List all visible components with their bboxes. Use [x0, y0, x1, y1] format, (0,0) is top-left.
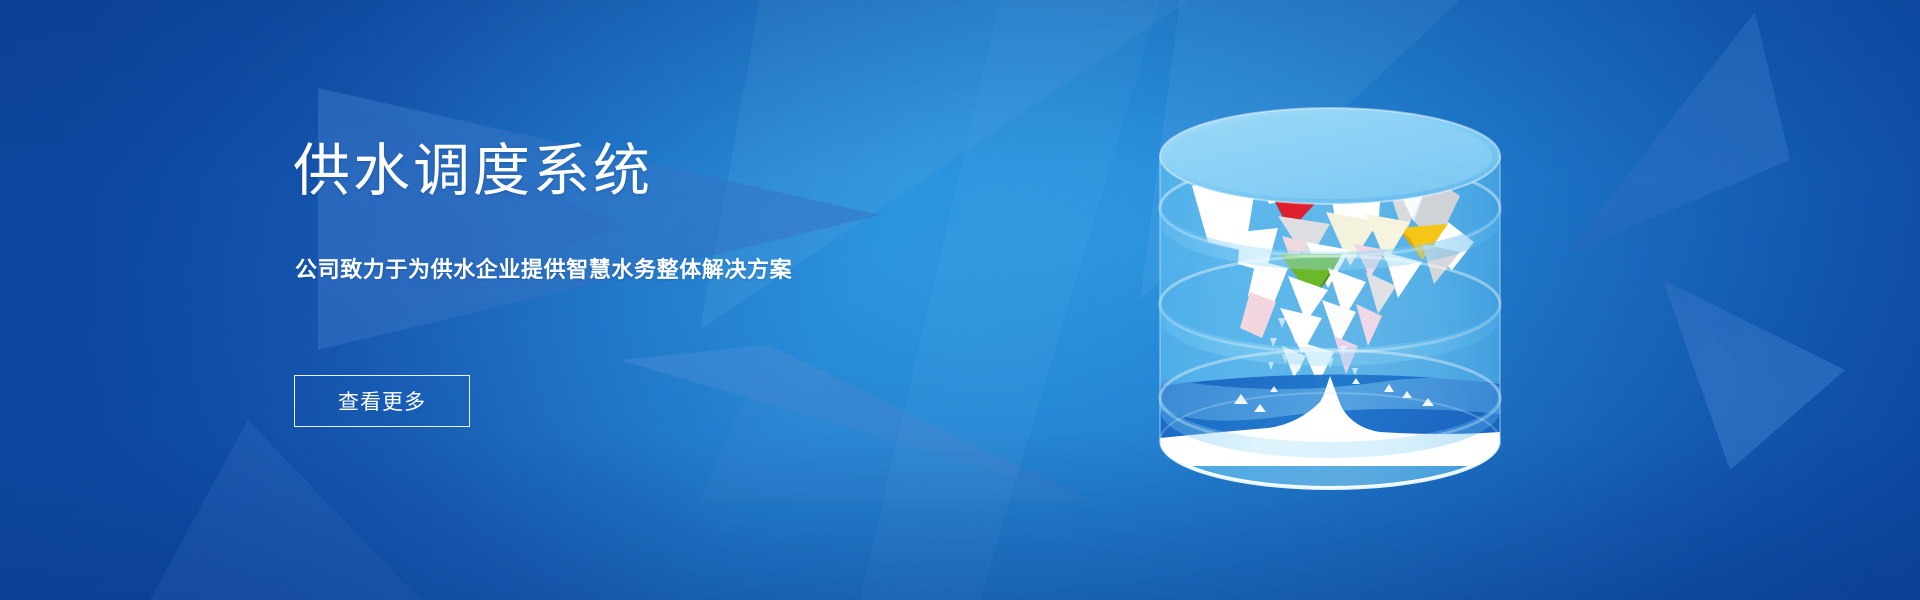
page-subtitle: 公司致力于为供水企业提供智慧水务整体解决方案 [295, 256, 792, 286]
view-more-button[interactable]: 查看更多 [294, 375, 470, 427]
hero-banner: 供水调度系统 公司致力于为供水企业提供智慧水务整体解决方案 查看更多 [0, 0, 1920, 600]
cylinder-top-cap-inner [1168, 113, 1492, 199]
page-title: 供水调度系统 [293, 140, 653, 203]
hero-content: 供水调度系统 公司致力于为供水企业提供智慧水务整体解决方案 查看更多 [293, 0, 993, 600]
water-database-cylinder-illustration [1130, 46, 1560, 516]
cylinder-body-group [1160, 108, 1500, 490]
